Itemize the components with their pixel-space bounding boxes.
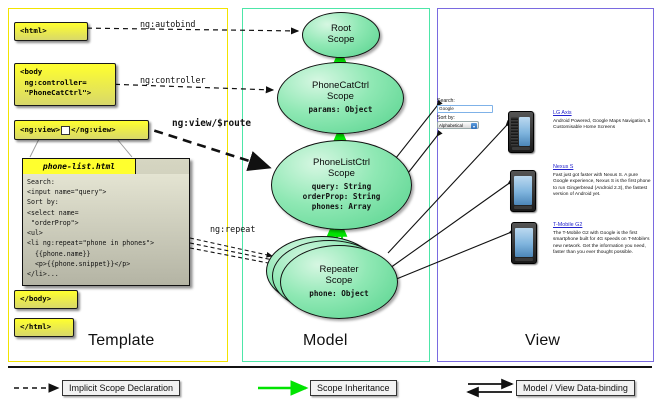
phone-band [512,147,530,150]
search-label: Search: [437,98,499,104]
legend-label-implicit-scope-declaration: Implicit Scope Declaration [62,380,180,396]
phone-snippet: Fast just got faster with Nexus S. A pur… [553,173,653,198]
scope-repeater: RepeaterScope phone: Object [280,245,398,319]
scope-repeater-props: phone: Object [309,289,368,299]
label-ng-autobind: ng:autobind [140,19,195,29]
phone-thumbnail-3 [511,222,537,264]
scope-root-name: RootScope [328,24,355,45]
phone-band [515,258,533,261]
phone-title-link[interactable]: T-Mobile G2 [553,222,653,229]
phone-screen [515,228,533,257]
tag-body-open: <body ng:controller= "PhoneCatCtrl"> [14,63,116,106]
code-card-phone-list: phone-list.html Search: <input name="que… [22,158,190,286]
phone-snippet: The T-Mobile G2 with Google is the first… [553,231,653,256]
phone-list-item: T-Mobile G2 The T-Mobile G2 with Google … [553,222,653,256]
phone-band [514,206,532,209]
tag-html-open: <html> [14,22,88,41]
sort-select-value: Alphabetical [439,123,463,128]
scope-root: RootScope [302,12,380,58]
phone-title-link[interactable]: LG Axis [553,110,653,117]
phone-screen [514,176,532,205]
sort-label: Sort by: [437,115,499,121]
scope-phonelistctrl-name: PhoneListCtrlScope [313,158,370,179]
legend-divider [8,366,652,368]
code-card-filename-tab: phone-list.html [23,159,136,175]
scope-phonecatctrl: PhoneCatCtrlScope params: Object [277,62,404,134]
scope-phonecatctrl-name: PhoneCatCtrlScope [312,81,369,102]
phone-screen [519,117,530,146]
scope-phonecatctrl-props: params: Object [308,105,372,115]
scope-repeater-name: RepeaterScope [319,265,358,286]
tag-ngview-close: </ng:view> [71,125,116,136]
phone-thumbnail-2 [510,170,536,212]
chevron-down-icon: ▾ [471,123,477,129]
column-label-template: Template [88,332,155,350]
label-ng-view-route: ng:view/$route [172,118,251,129]
label-ng-controller: ng:controller [140,75,206,85]
diagram-canvas: <html> <body ng:controller= "PhoneCatCtr… [0,0,660,405]
phone-list-item: Nexus S Fast just got faster with Nexus … [553,164,653,198]
legend-label-model-view-data-binding: Model / View Data-binding [516,380,635,396]
phone-thumbnail-1 [508,111,534,153]
label-ng-repeat: ng:repeat [210,224,255,234]
ngview-placeholder-icon [61,126,70,135]
code-card-source: Search: <input name="query"> Sort by: <s… [23,174,189,285]
view-search-form: Search: Google Sort by: Alphabetical ▾ [437,98,499,129]
code-card-filename: phone-list.html [43,162,115,171]
phone-snippet: Android Powered, Google Maps Navigation,… [553,119,653,132]
tag-ngview-open: <ng:view> [20,125,60,136]
scope-phonelistctrl-props: query: StringorderProp: Stringphones: Ar… [303,182,381,212]
legend-glyph-databinding [468,384,512,392]
tag-body-close: </body> [14,290,78,309]
column-label-view: View [525,332,560,350]
phone-list-item: LG Axis Android Powered, Google Maps Nav… [553,110,653,132]
tag-html-close: </html> [14,318,74,337]
sort-select[interactable]: Alphabetical ▾ [437,121,479,129]
scope-phonelistctrl: PhoneListCtrlScope query: StringorderPro… [271,140,412,230]
column-label-model: Model [303,332,348,350]
legend-label-scope-inheritance: Scope Inheritance [310,380,397,396]
tag-ngview: <ng:view> </ng:view> [14,120,149,140]
phone-title-link[interactable]: Nexus S [553,164,653,171]
search-input[interactable]: Google [437,105,493,113]
